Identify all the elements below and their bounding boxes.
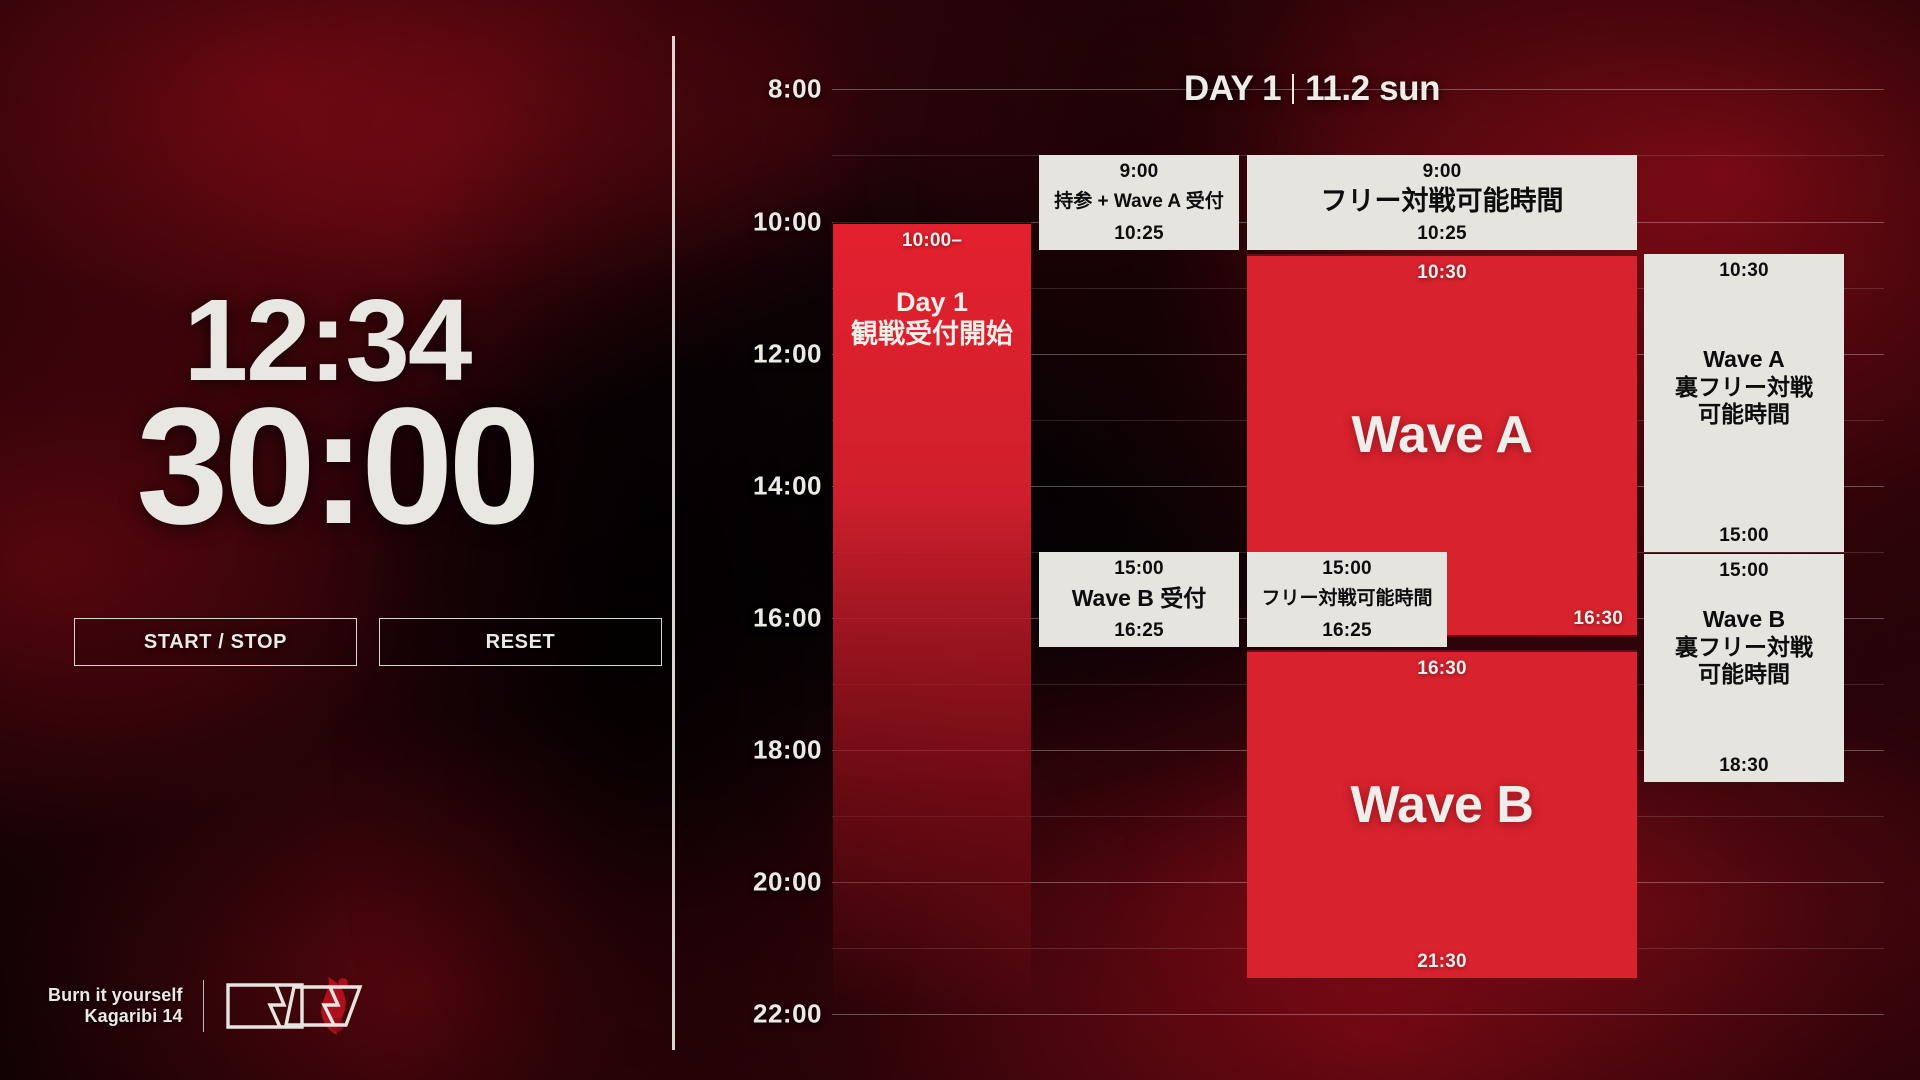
block-satellite-wave-b[interactable]: 15:00 Wave B 裏フリー対戦 可能時間 18:30 — [1644, 554, 1844, 782]
reset-button[interactable]: RESET — [379, 618, 662, 666]
block-time-end: 18:30 — [1644, 755, 1844, 777]
block-time-end: 10:25 — [1247, 223, 1637, 245]
block-label: Wave A — [1247, 404, 1637, 466]
axis-label-8: 8:00 — [672, 74, 822, 105]
block-time-end: 16:25 — [1247, 620, 1447, 642]
kagaribi-logo-icon — [224, 975, 374, 1037]
axis-label-14: 14:00 — [672, 471, 822, 502]
block-time-end: 10:25 — [1039, 223, 1239, 245]
block-time-start: 10:30 — [1247, 262, 1637, 284]
axis-label-22: 22:00 — [672, 999, 822, 1030]
block-time-start: 9:00 — [1039, 161, 1239, 183]
timer-panel: 12:34 30:00 START / STOP RESET Burn it y… — [0, 0, 672, 1080]
block-free-play-morning[interactable]: 9:00 フリー対戦可能時間 10:25 — [1247, 155, 1637, 250]
block-time-start: 15:00 — [1247, 558, 1447, 580]
day-title-separator — [1292, 74, 1294, 104]
day-title-day: DAY 1 — [1184, 69, 1281, 108]
block-time-end: 16:25 — [1039, 620, 1239, 642]
block-label-line2: 観戦受付開始 — [833, 318, 1031, 350]
logo-divider — [203, 980, 205, 1032]
block-wave-b[interactable]: 16:30 Wave B 21:30 — [1247, 650, 1637, 980]
axis-label-18: 18:00 — [672, 735, 822, 766]
block-label: 持参 + Wave A 受付 — [1039, 191, 1239, 214]
block-time-end: 15:00 — [1644, 525, 1844, 547]
block-label-line3: 可能時間 — [1644, 401, 1844, 429]
block-waveb-reception[interactable]: 15:00 Wave B 受付 16:25 — [1039, 552, 1239, 647]
block-time-start: 9:00 — [1247, 161, 1637, 183]
axis-label-12: 12:00 — [672, 339, 822, 370]
block-label-line1: Wave B — [1644, 606, 1844, 634]
axis-vertical-rule — [672, 36, 675, 1050]
event-logo: Burn it yourself Kagaribi 14 — [48, 975, 374, 1037]
block-label-line2: 裏フリー対戦 — [1644, 374, 1844, 402]
clock-display: 12:34 30:00 — [0, 286, 672, 544]
block-label-line1: Day 1 — [833, 286, 1031, 318]
axis-label-16: 16:00 — [672, 603, 822, 634]
block-time-end: 16:30 — [1573, 608, 1623, 630]
block-free-play-afternoon[interactable]: 15:00 フリー対戦可能時間 16:25 — [1247, 552, 1447, 647]
block-label: Wave B 受付 — [1039, 585, 1239, 613]
block-jisan-wavea-reception[interactable]: 9:00 持参 + Wave A 受付 10:25 — [1039, 155, 1239, 250]
logo-tagline: Burn it yourself Kagaribi 14 — [48, 985, 183, 1027]
axis-label-20: 20:00 — [672, 867, 822, 898]
block-label-line2: 裏フリー対戦 — [1644, 634, 1844, 662]
schedule-panel: 8:00 10:00 12:00 14:00 16:00 18:00 20:00… — [672, 0, 1920, 1080]
day-title: DAY 111.2 sun — [952, 69, 1672, 109]
block-time-start: 15:00 — [1039, 558, 1239, 580]
day-title-date: 11.2 sun — [1305, 69, 1440, 108]
block-label-line1: Wave A — [1644, 346, 1844, 374]
block-time-start: 16:30 — [1247, 658, 1637, 680]
block-label: フリー対戦可能時間 — [1247, 588, 1447, 611]
block-time-start: 10:30 — [1644, 260, 1844, 282]
block-label-line3: 可能時間 — [1644, 661, 1844, 689]
gridline-22 — [832, 1014, 1884, 1015]
block-satellite-wave-a[interactable]: 10:30 Wave A 裏フリー対戦 可能時間 15:00 — [1644, 254, 1844, 552]
block-time-start: 10:00– — [833, 230, 1031, 252]
timer-controls: START / STOP RESET — [74, 618, 662, 666]
block-label: フリー対戦可能時間 — [1247, 185, 1637, 217]
logo-tagline-line1: Burn it yourself — [48, 985, 183, 1006]
logo-tagline-line2: Kagaribi 14 — [48, 1006, 183, 1027]
block-day1-reception[interactable]: 10:00– Day 1 観戦受付開始 — [833, 222, 1031, 1014]
block-time-start: 15:00 — [1644, 560, 1844, 582]
axis-label-10: 10:00 — [672, 207, 822, 238]
block-label: Wave B — [1247, 774, 1637, 836]
start-stop-button[interactable]: START / STOP — [74, 618, 357, 666]
block-time-end: 21:30 — [1247, 951, 1637, 973]
countdown-timer: 30:00 — [0, 391, 672, 544]
